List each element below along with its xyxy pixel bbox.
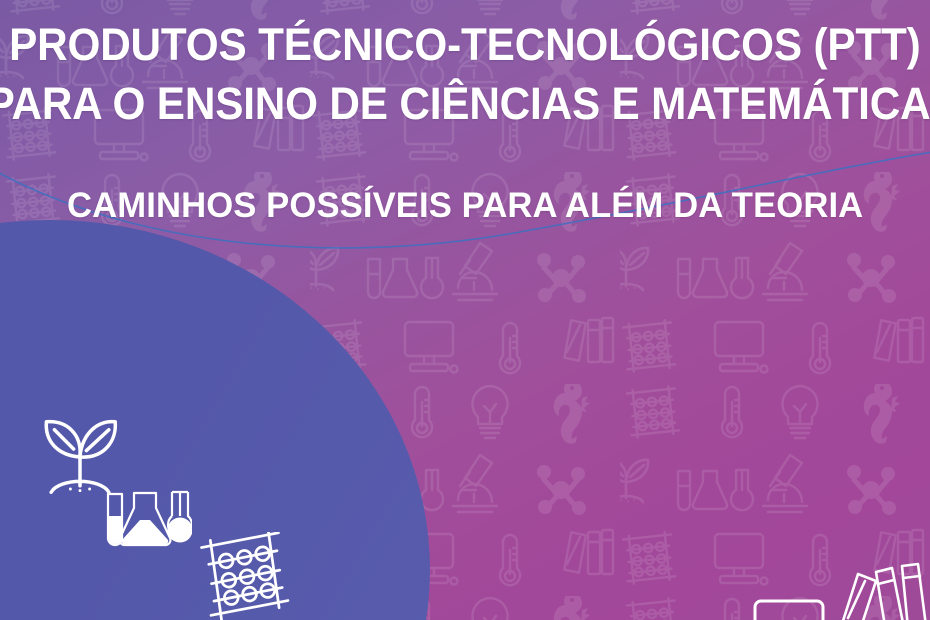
background-icon-pattern (0, 0, 930, 620)
blue-swoosh-line (0, 0, 930, 620)
poster-subtitle: CAMINHOS POSSÍVEIS PARA ALÉM DA TEORIA (67, 188, 863, 223)
tablet-icon (752, 598, 826, 620)
poster-title-line-1: PRODUTOS TÉCNICO-TECNOLÓGICOS (PTT) (9, 22, 920, 67)
poster-text-block: PRODUTOS TÉCNICO-TECNOLÓGICOS (PTT) PARA… (0, 0, 930, 620)
abacus-icon (196, 532, 294, 620)
books-icon (840, 562, 930, 620)
poster-canvas: PRODUTOS TÉCNICO-TECNOLÓGICOS (PTT) PARA… (0, 0, 930, 620)
poster-title-line-2: PARA O ENSINO DE CIÊNCIAS E MATEMÁTICA: (0, 81, 930, 126)
blue-corner-shape (0, 220, 430, 620)
sprout-icon (34, 417, 126, 497)
flasks-icon (104, 488, 192, 550)
